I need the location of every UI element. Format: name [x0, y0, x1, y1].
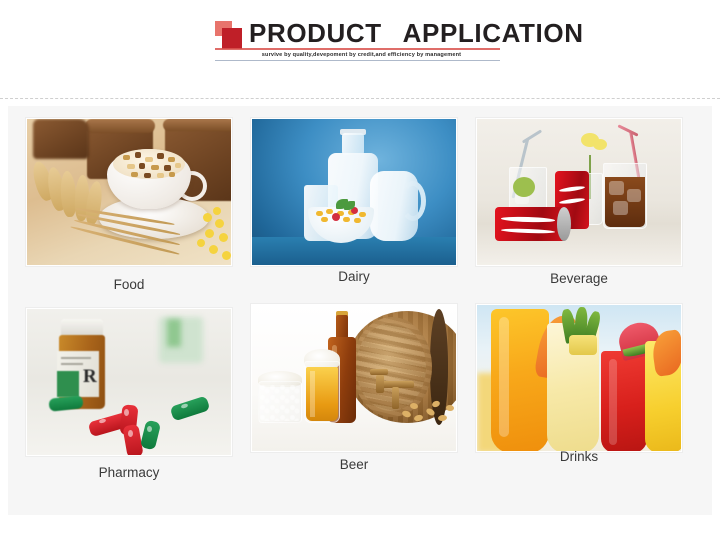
- gallery-item-drinks[interactable]: Drinks: [476, 304, 682, 480]
- title-logo-block: PRODUCT APPLICATION survive by quality,d…: [215, 18, 500, 70]
- gallery-thumb-pharmacy[interactable]: R: [26, 308, 232, 456]
- pharmacy-illustration: R: [27, 309, 231, 455]
- food-illustration: [27, 119, 231, 265]
- gallery-caption-drinks: Drinks: [476, 448, 682, 466]
- title-accent-rule: [215, 48, 500, 50]
- gallery-thumb-dairy[interactable]: [251, 118, 457, 266]
- tagline-rule: [215, 60, 500, 61]
- product-gallery-grid: Food: [8, 106, 712, 515]
- gallery-item-pharmacy[interactable]: R: [26, 308, 232, 484]
- tagline: survive by quality,devepoment by credit,…: [223, 51, 500, 60]
- gallery-item-beverage[interactable]: Beverage: [476, 118, 682, 294]
- gallery-caption-pharmacy: Pharmacy: [26, 464, 232, 482]
- gallery-item-beer[interactable]: Beer: [251, 304, 457, 480]
- gallery-thumb-food[interactable]: [26, 118, 232, 266]
- gallery-thumb-drinks[interactable]: [476, 304, 682, 452]
- gallery-caption-food: Food: [26, 276, 232, 294]
- content-panel: Food: [8, 106, 712, 515]
- page-title-word-1: PRODUCT: [249, 18, 382, 49]
- gallery-caption-beverage: Beverage: [476, 270, 682, 288]
- page-title-word-2: APPLICATION: [403, 18, 584, 49]
- gallery-item-dairy[interactable]: Dairy: [251, 118, 457, 294]
- gallery-caption-beer: Beer: [251, 456, 457, 474]
- gallery-item-food[interactable]: Food: [26, 118, 232, 294]
- dairy-illustration: [252, 119, 456, 265]
- two-squares-logo-icon: [215, 21, 245, 51]
- gallery-caption-dairy: Dairy: [251, 268, 457, 286]
- logo-square-dark: [222, 28, 242, 49]
- page-title: PRODUCT APPLICATION: [249, 18, 584, 49]
- gallery-thumb-beverage[interactable]: [476, 118, 682, 266]
- slide-page: PRODUCT APPLICATION survive by quality,d…: [0, 0, 720, 542]
- beverage-illustration: [477, 119, 681, 265]
- slide-header: PRODUCT APPLICATION survive by quality,d…: [0, 0, 720, 90]
- gallery-thumb-beer[interactable]: [251, 304, 457, 452]
- drinks-illustration: [477, 305, 681, 451]
- beer-illustration: [252, 305, 456, 451]
- header-divider: [0, 98, 720, 99]
